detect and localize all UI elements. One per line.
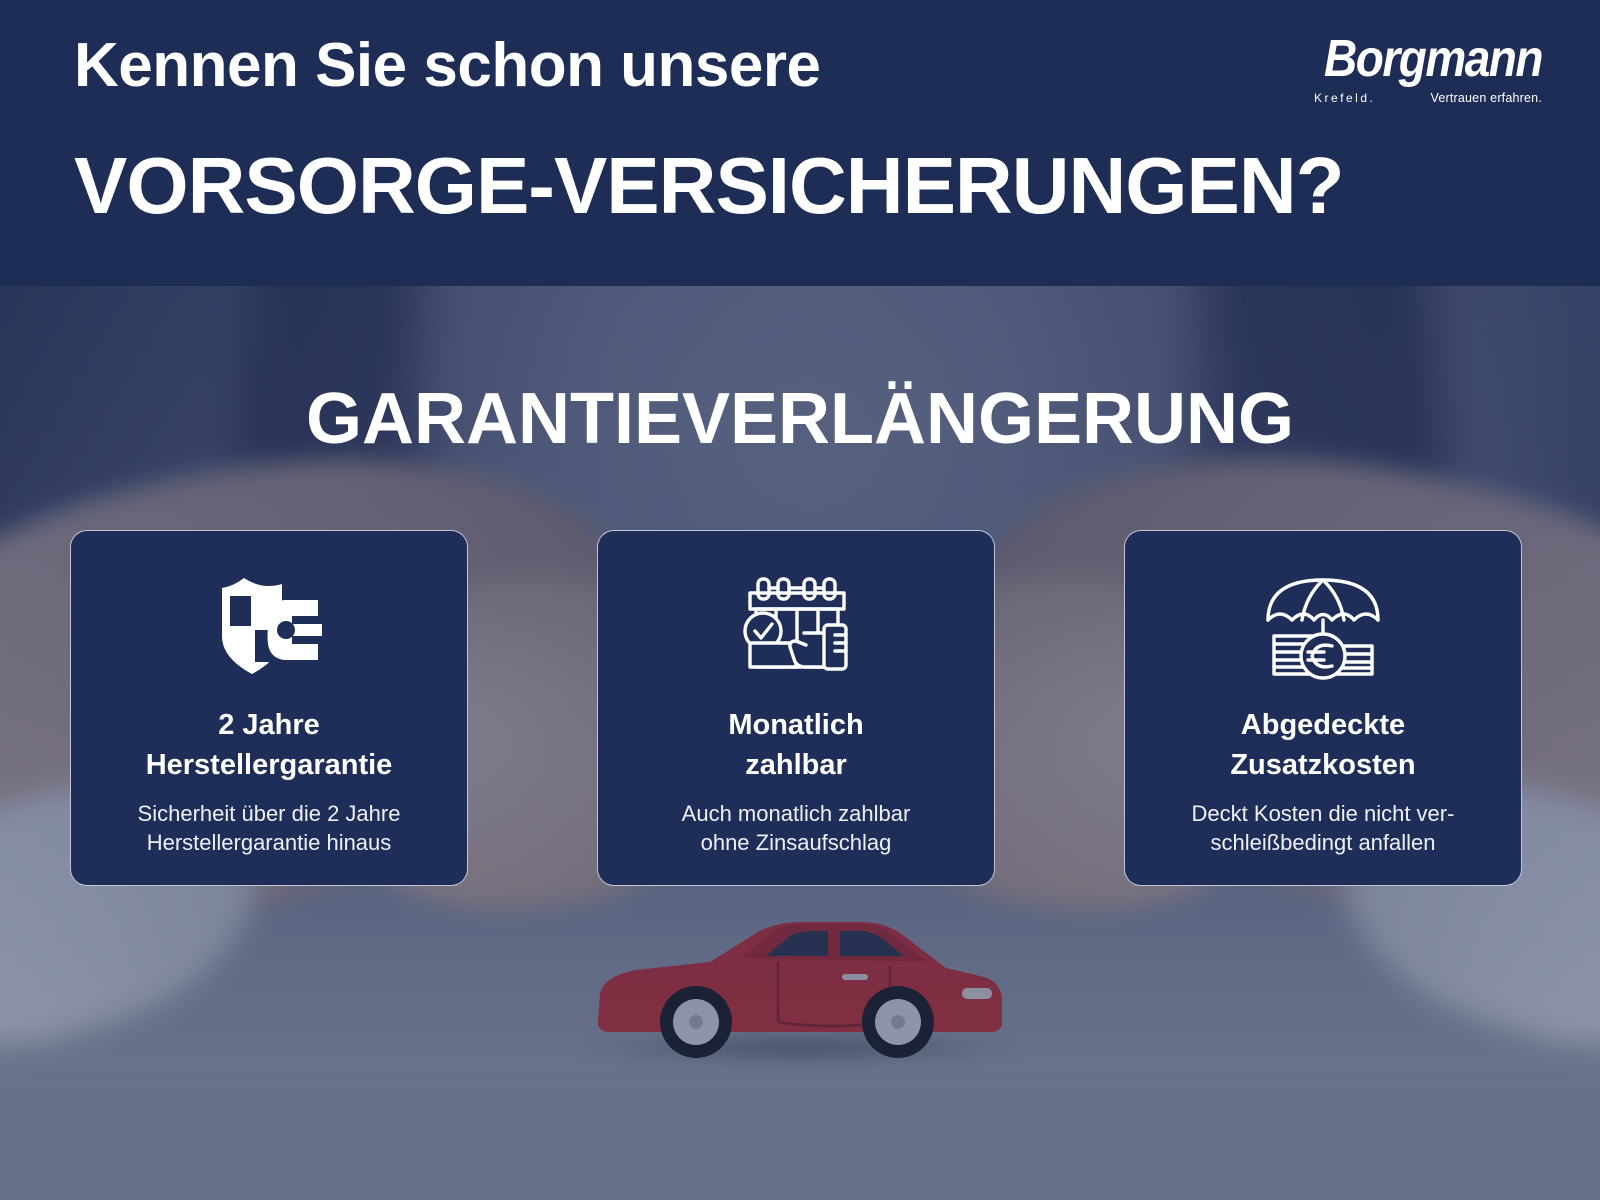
logo-tagline: Krefeld. Vertrauen erfahren. [1314,91,1542,105]
card-desc-line-2: schleißbedingt anfallen [1210,830,1435,855]
card-title-line-1: Abgedeckte [1241,709,1405,741]
card-title-line-1: Monatlich [728,709,863,741]
card-title-line-2: Herstellergarantie [146,749,393,781]
header-band: Kennen Sie schon unsere VORSORGE-VERSICH… [0,0,1600,286]
card-title-line-1: 2 Jahre [218,709,320,741]
headline-line-1: Kennen Sie schon unsere [74,30,821,101]
card-title: 2 Jahre Herstellergarantie [146,705,393,785]
card-desc-line-1: Sicherheit über die 2 Jahre [138,801,401,826]
logo-tagline-slogan: Vertrauen erfahren. [1430,91,1542,105]
borgmann-logo[interactable]: Borgmann Krefeld. Vertrauen erfahren. [1314,38,1542,105]
feature-card-monthly-payment[interactable]: Monatlich zahlbar Auch monatlich zahlbar… [597,530,995,886]
card-desc-line-1: Auch monatlich zahlbar [682,801,911,826]
card-desc-line-2: ohne Zinsaufschlag [701,830,892,855]
logo-tagline-city: Krefeld. [1314,91,1375,105]
feature-card-extra-costs[interactable]: Abgedeckte Zusatzkosten Deckt Kosten die… [1124,530,1522,886]
shield-car-icon [200,569,338,687]
card-title: Monatlich zahlbar [728,705,863,785]
card-title: Abgedeckte Zusatzkosten [1230,705,1415,785]
card-description: Deckt Kosten die nicht ver- schleißbedin… [1192,799,1455,858]
logo-wordmark: Borgmann [1314,32,1542,84]
section-title: GARANTIEVERLÄNGERUNG [0,378,1600,460]
card-title-line-2: Zusatzkosten [1230,749,1415,781]
feature-card-row: 2 Jahre Herstellergarantie Sicherheit üb… [70,530,1522,886]
headline-line-2: VORSORGE-VERSICHERUNGEN? [74,140,1343,232]
card-desc-line-1: Deckt Kosten die nicht ver- [1192,801,1455,826]
umbrella-euro-coins-icon [1258,569,1388,687]
card-description: Auch monatlich zahlbar ohne Zinsaufschla… [682,799,911,858]
feature-card-warranty[interactable]: 2 Jahre Herstellergarantie Sicherheit üb… [70,530,468,886]
calendar-check-payment-icon [736,569,856,687]
card-description: Sicherheit über die 2 Jahre Herstellerga… [138,799,401,858]
card-title-line-2: zahlbar [745,749,847,781]
card-desc-line-2: Herstellergarantie hinaus [147,830,392,855]
promo-banner: Kennen Sie schon unsere VORSORGE-VERSICH… [0,0,1600,1200]
